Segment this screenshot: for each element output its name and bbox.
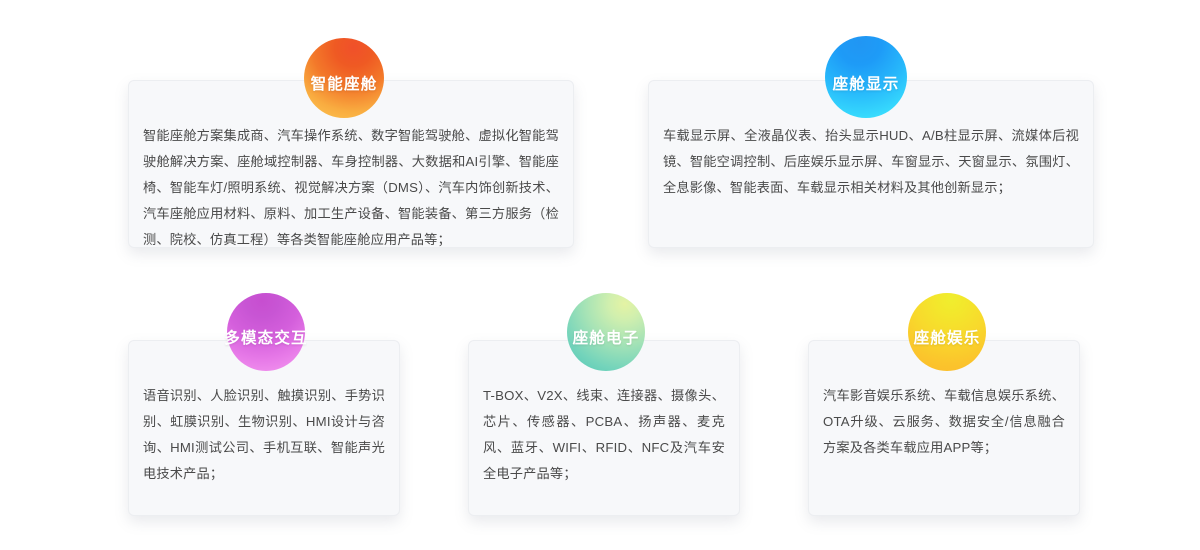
- card-body-cockpit-electronics: T-BOX、V2X、线束、连接器、摄像头、芯片、传感器、PCBA、扬声器、麦克风…: [483, 383, 725, 487]
- badge-multimodal[interactable]: 多模态交互: [227, 293, 305, 371]
- badge-label-cockpit-entertainment: 座舱娱乐: [914, 326, 981, 348]
- card-body-cockpit-display: 车载显示屏、全液晶仪表、抬头显示HUD、A/B柱显示屏、流媒体后视镜、智能空调控…: [663, 123, 1079, 201]
- badge-cockpit-entertainment[interactable]: 座舱娱乐: [908, 293, 986, 371]
- badge-label-multimodal: 多模态交互: [224, 326, 308, 348]
- card-body-multimodal: 语音识别、人脸识别、触摸识别、手势识别、虹膜识别、生物识别、HMI设计与咨询、H…: [143, 383, 385, 487]
- infographic-stage: 智能座舱方案集成商、汽车操作系统、数字智能驾驶舱、虚拟化智能驾驶舱解决方案、座舱…: [0, 0, 1200, 550]
- badge-cockpit-electronics[interactable]: 座舱电子: [567, 293, 645, 371]
- badge-label-cockpit-electronics: 座舱电子: [573, 326, 640, 348]
- badge-label-cockpit-display: 座舱显示: [833, 72, 900, 94]
- badge-smart-cockpit[interactable]: 智能座舱: [304, 38, 384, 118]
- card-body-smart-cockpit: 智能座舱方案集成商、汽车操作系统、数字智能驾驶舱、虚拟化智能驾驶舱解决方案、座舱…: [143, 123, 559, 253]
- badge-label-smart-cockpit: 智能座舱: [311, 72, 378, 94]
- badge-cockpit-display[interactable]: 座舱显示: [825, 36, 907, 118]
- card-body-cockpit-entertainment: 汽车影音娱乐系统、车载信息娱乐系统、OTA升级、云服务、数据安全/信息融合方案及…: [823, 383, 1065, 461]
